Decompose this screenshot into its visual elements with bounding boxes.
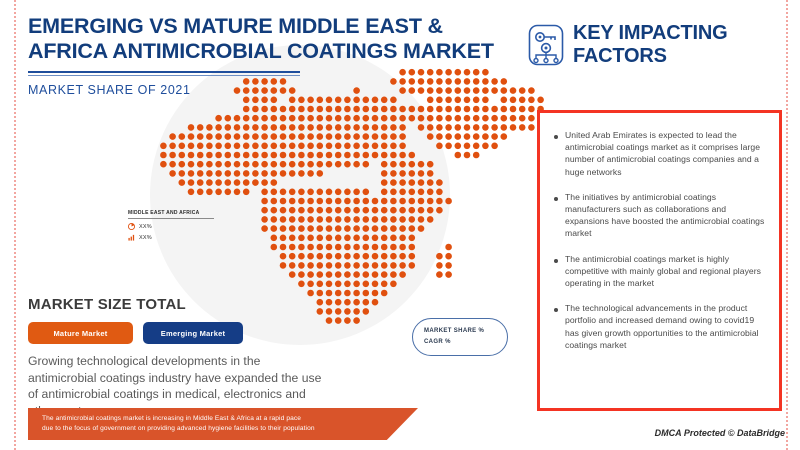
callout-line-market-share: MARKET SHARE % — [424, 326, 507, 337]
factor-item: The technological advancements in the pr… — [554, 302, 765, 351]
right-column: KEY IMPACTING FACTORS — [528, 22, 776, 68]
market-size-heading: MARKET SIZE TOTAL — [28, 296, 358, 313]
bullet-icon — [554, 308, 558, 312]
legend-row: XX% — [128, 234, 214, 241]
cagr-icon — [128, 234, 135, 241]
mature-market-button[interactable]: Mature Market — [28, 322, 133, 344]
title-block: EMERGING VS MATURE MIDDLE EAST & AFRICA … — [28, 14, 528, 97]
factor-item: The antimicrobial coatings market is hig… — [554, 253, 765, 290]
market-share-cagr-callout: MARKET SHARE % CAGR % — [412, 318, 508, 356]
factor-text: United Arab Emirates is expected to lead… — [565, 129, 765, 178]
legend-value: XX% — [139, 235, 152, 241]
page-subtitle: MARKET SHARE OF 2021 — [28, 83, 528, 97]
key-factors-title: KEY IMPACTING FACTORS — [573, 22, 727, 68]
title-divider-thick — [28, 71, 300, 73]
emerging-market-button[interactable]: Emerging Market — [143, 322, 243, 344]
legend-row: XX% — [128, 223, 214, 230]
right-dotted-border — [786, 0, 788, 450]
bullet-icon — [554, 259, 558, 263]
title-divider-thin — [28, 75, 300, 76]
callout-line-cagr: CAGR % — [424, 337, 507, 348]
key-factors-box: United Arab Emirates is expected to lead… — [537, 110, 782, 411]
market-share-icon — [128, 223, 135, 230]
factor-item: United Arab Emirates is expected to lead… — [554, 129, 765, 178]
factor-text: The technological advancements in the pr… — [565, 302, 765, 351]
market-size-section: MARKET SIZE TOTAL Mature Market Emerging… — [28, 296, 358, 419]
legend-title: MIDDLE EAST AND AFRICA — [128, 210, 214, 219]
page-title: EMERGING VS MATURE MIDDLE EAST & AFRICA … — [28, 14, 528, 64]
map-legend: MIDDLE EAST AND AFRICA XX% XX% — [128, 210, 214, 241]
left-dotted-border — [14, 0, 16, 450]
key-factors-header: KEY IMPACTING FACTORS — [528, 22, 776, 68]
infographic-page: EMERGING VS MATURE MIDDLE EAST & AFRICA … — [0, 0, 800, 450]
factor-text: The antimicrobial coatings market is hig… — [565, 253, 765, 290]
bullet-icon — [554, 135, 558, 139]
bullet-icon — [554, 197, 558, 201]
factor-item: The initiatives by antimicrobial coating… — [554, 191, 765, 240]
legend-value: XX% — [139, 224, 152, 230]
factor-text: The initiatives by antimicrobial coating… — [565, 191, 765, 240]
bottom-banner-text: The antimicrobial coatings market is inc… — [28, 414, 315, 434]
market-type-buttons: Mature Market Emerging Market — [28, 322, 358, 344]
bottom-banner: The antimicrobial coatings market is inc… — [28, 408, 418, 440]
